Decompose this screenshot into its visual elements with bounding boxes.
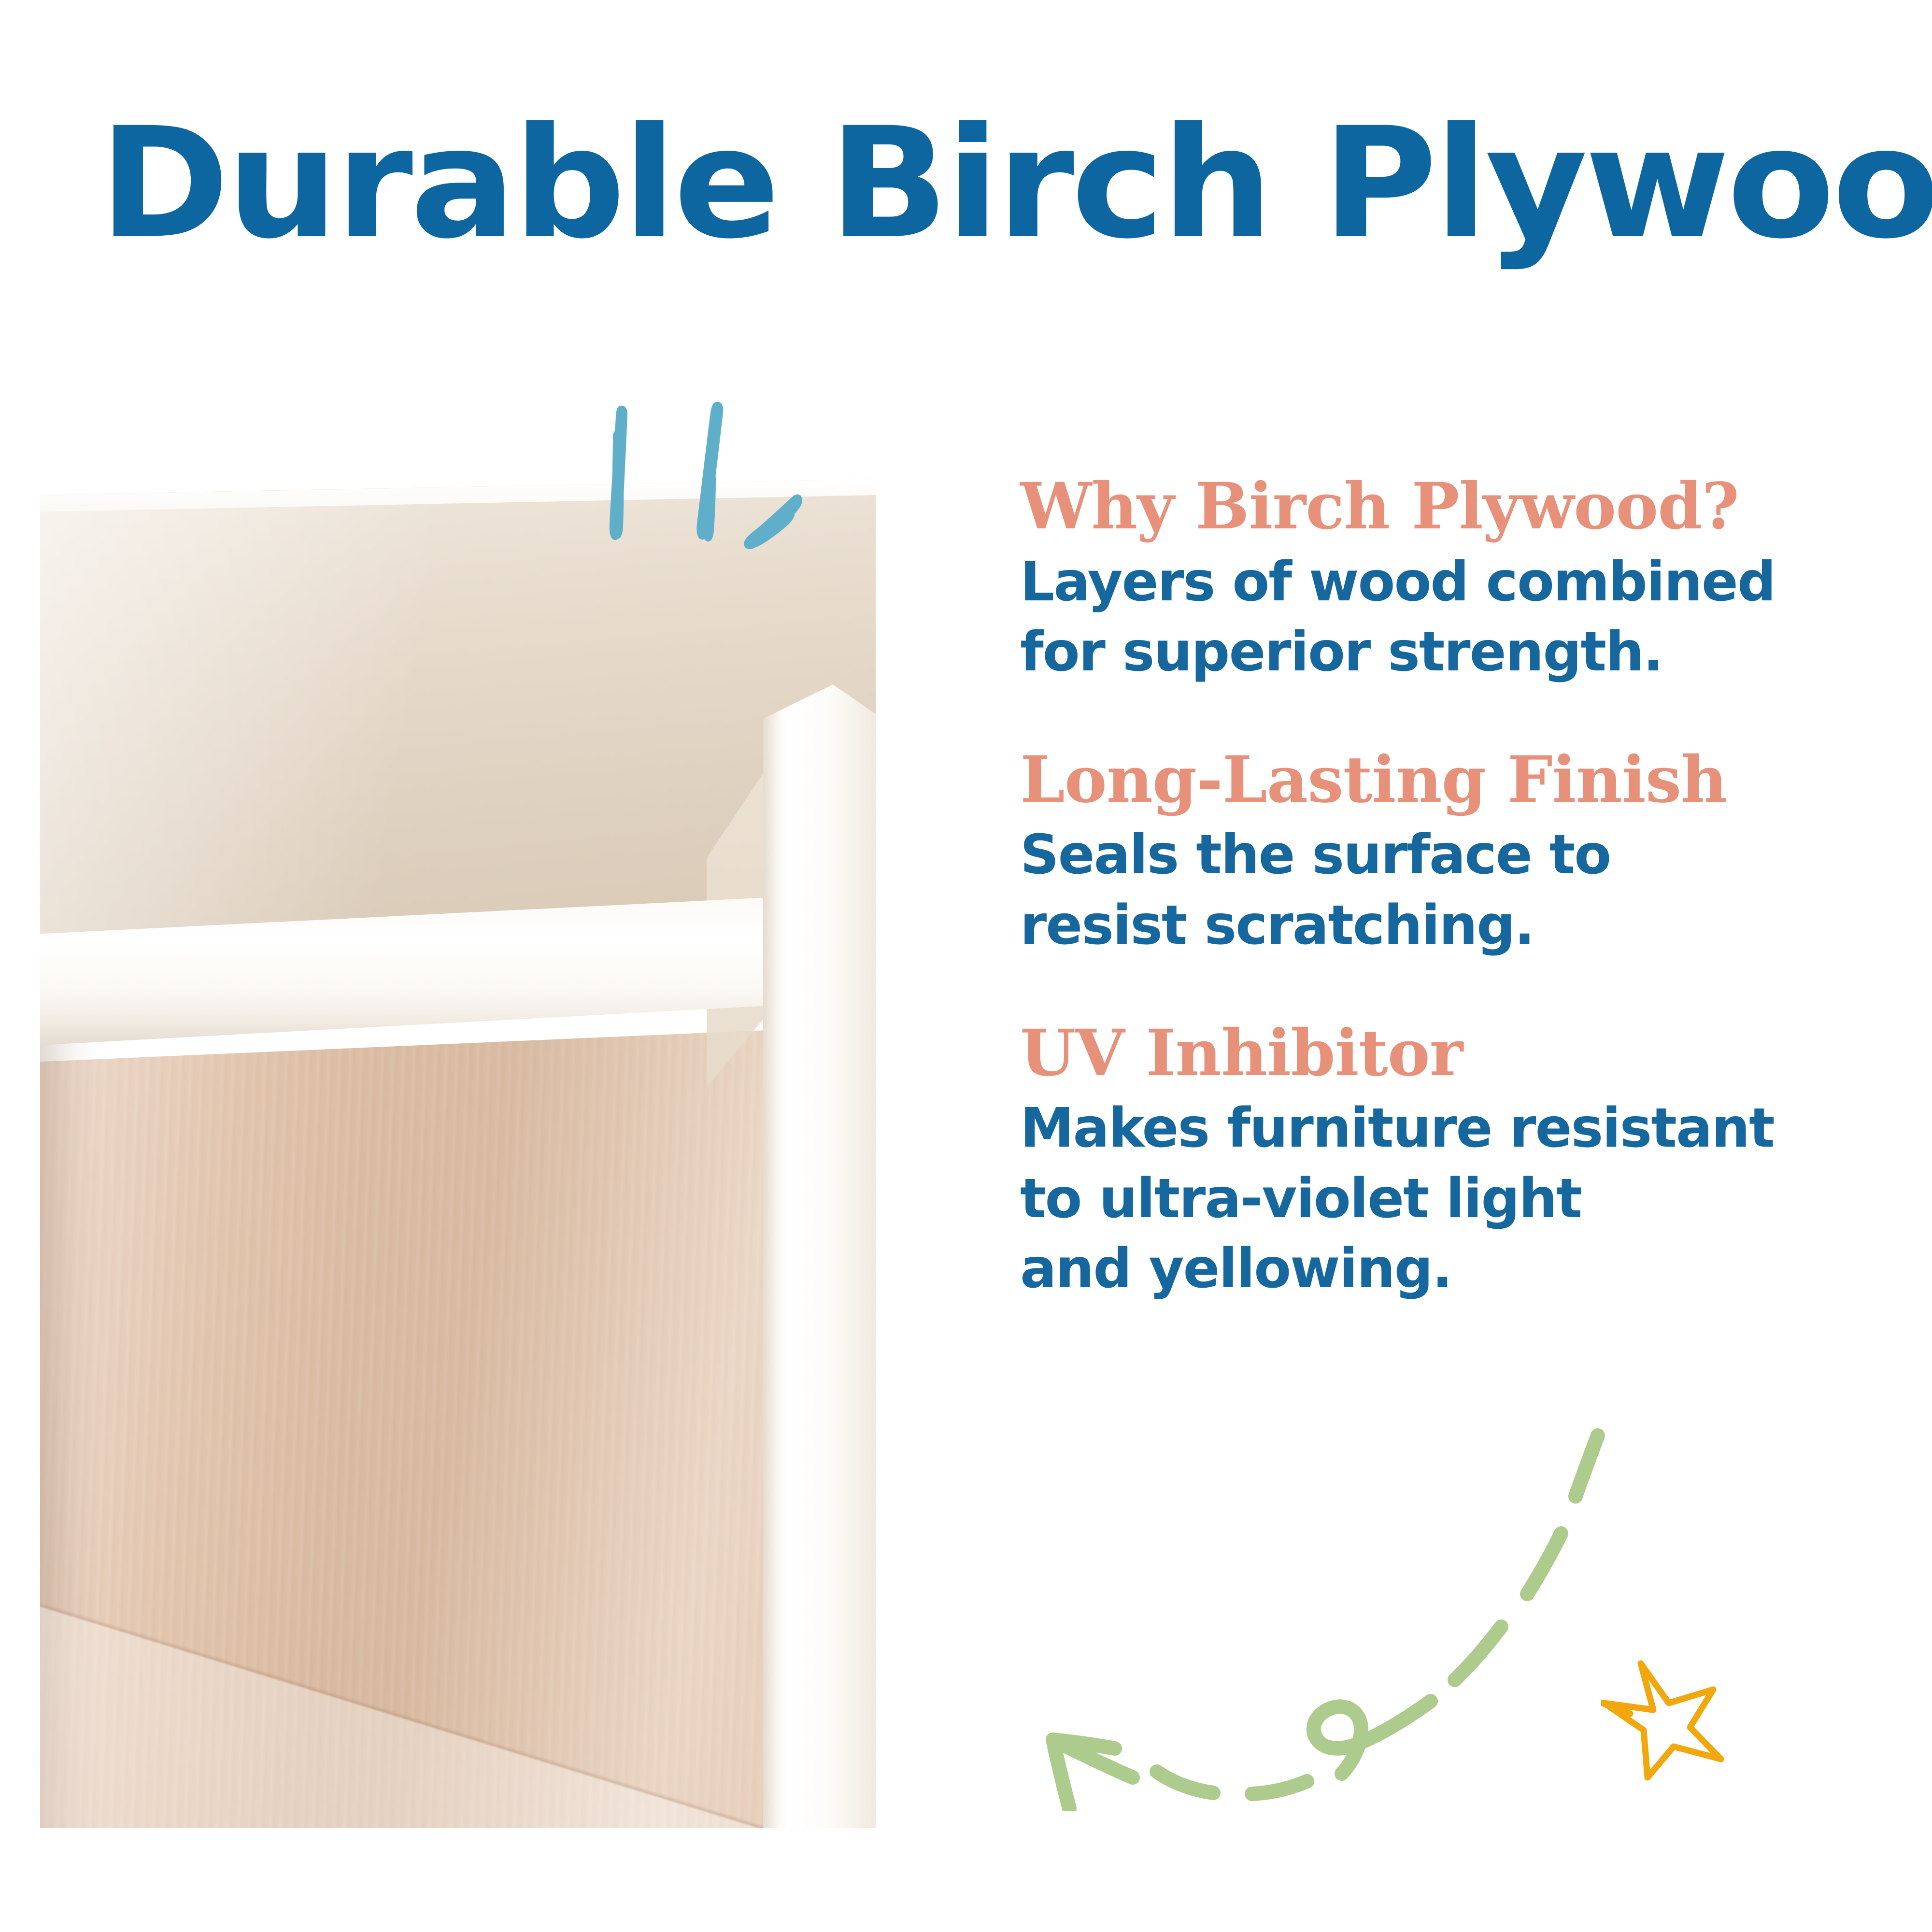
feature-body-line: and yellowing. — [1020, 1234, 1889, 1305]
feature-list: Why Birch Plywood? Layers of wood combin… — [1020, 473, 1889, 1305]
feature-body: Layers of wood combined for superior str… — [1020, 547, 1889, 688]
feature-body-line: to ultra-violet light — [1020, 1164, 1889, 1235]
feature-item: Long-Lasting Finish Seals the surface to… — [1020, 747, 1889, 961]
feature-heading: Long-Lasting Finish — [1020, 747, 1889, 814]
feature-body-line: resist scratching. — [1020, 891, 1889, 961]
infographic-canvas: Durable Birch Plywood — [0, 0, 1932, 1932]
photo-side-panel-edge — [763, 684, 781, 1828]
feature-body-line: Makes furniture resistant — [1020, 1094, 1889, 1164]
photo-diagonal-seam — [40, 1605, 777, 1828]
feature-body: Makes furniture resistant to ultra-viole… — [1020, 1094, 1889, 1305]
feature-body-line: Layers of wood combined — [1020, 547, 1889, 618]
feature-item: UV Inhibitor Makes furniture resistant t… — [1020, 1020, 1889, 1305]
product-photo — [40, 479, 876, 1828]
star-icon — [1601, 1657, 1732, 1787]
feature-heading: Why Birch Plywood? — [1020, 473, 1889, 540]
feature-body-line: Seals the surface to — [1020, 820, 1889, 891]
feature-item: Why Birch Plywood? Layers of wood combin… — [1020, 473, 1889, 688]
feature-body-line: for superior strength. — [1020, 617, 1889, 688]
feature-body: Seals the surface to resist scratching. — [1020, 820, 1889, 961]
swirl-arrow-icon — [1034, 1425, 1637, 1811]
page-title: Durable Birch Plywood — [99, 107, 1932, 260]
sparkle-marks-icon — [594, 396, 932, 599]
feature-heading: UV Inhibitor — [1020, 1020, 1889, 1087]
